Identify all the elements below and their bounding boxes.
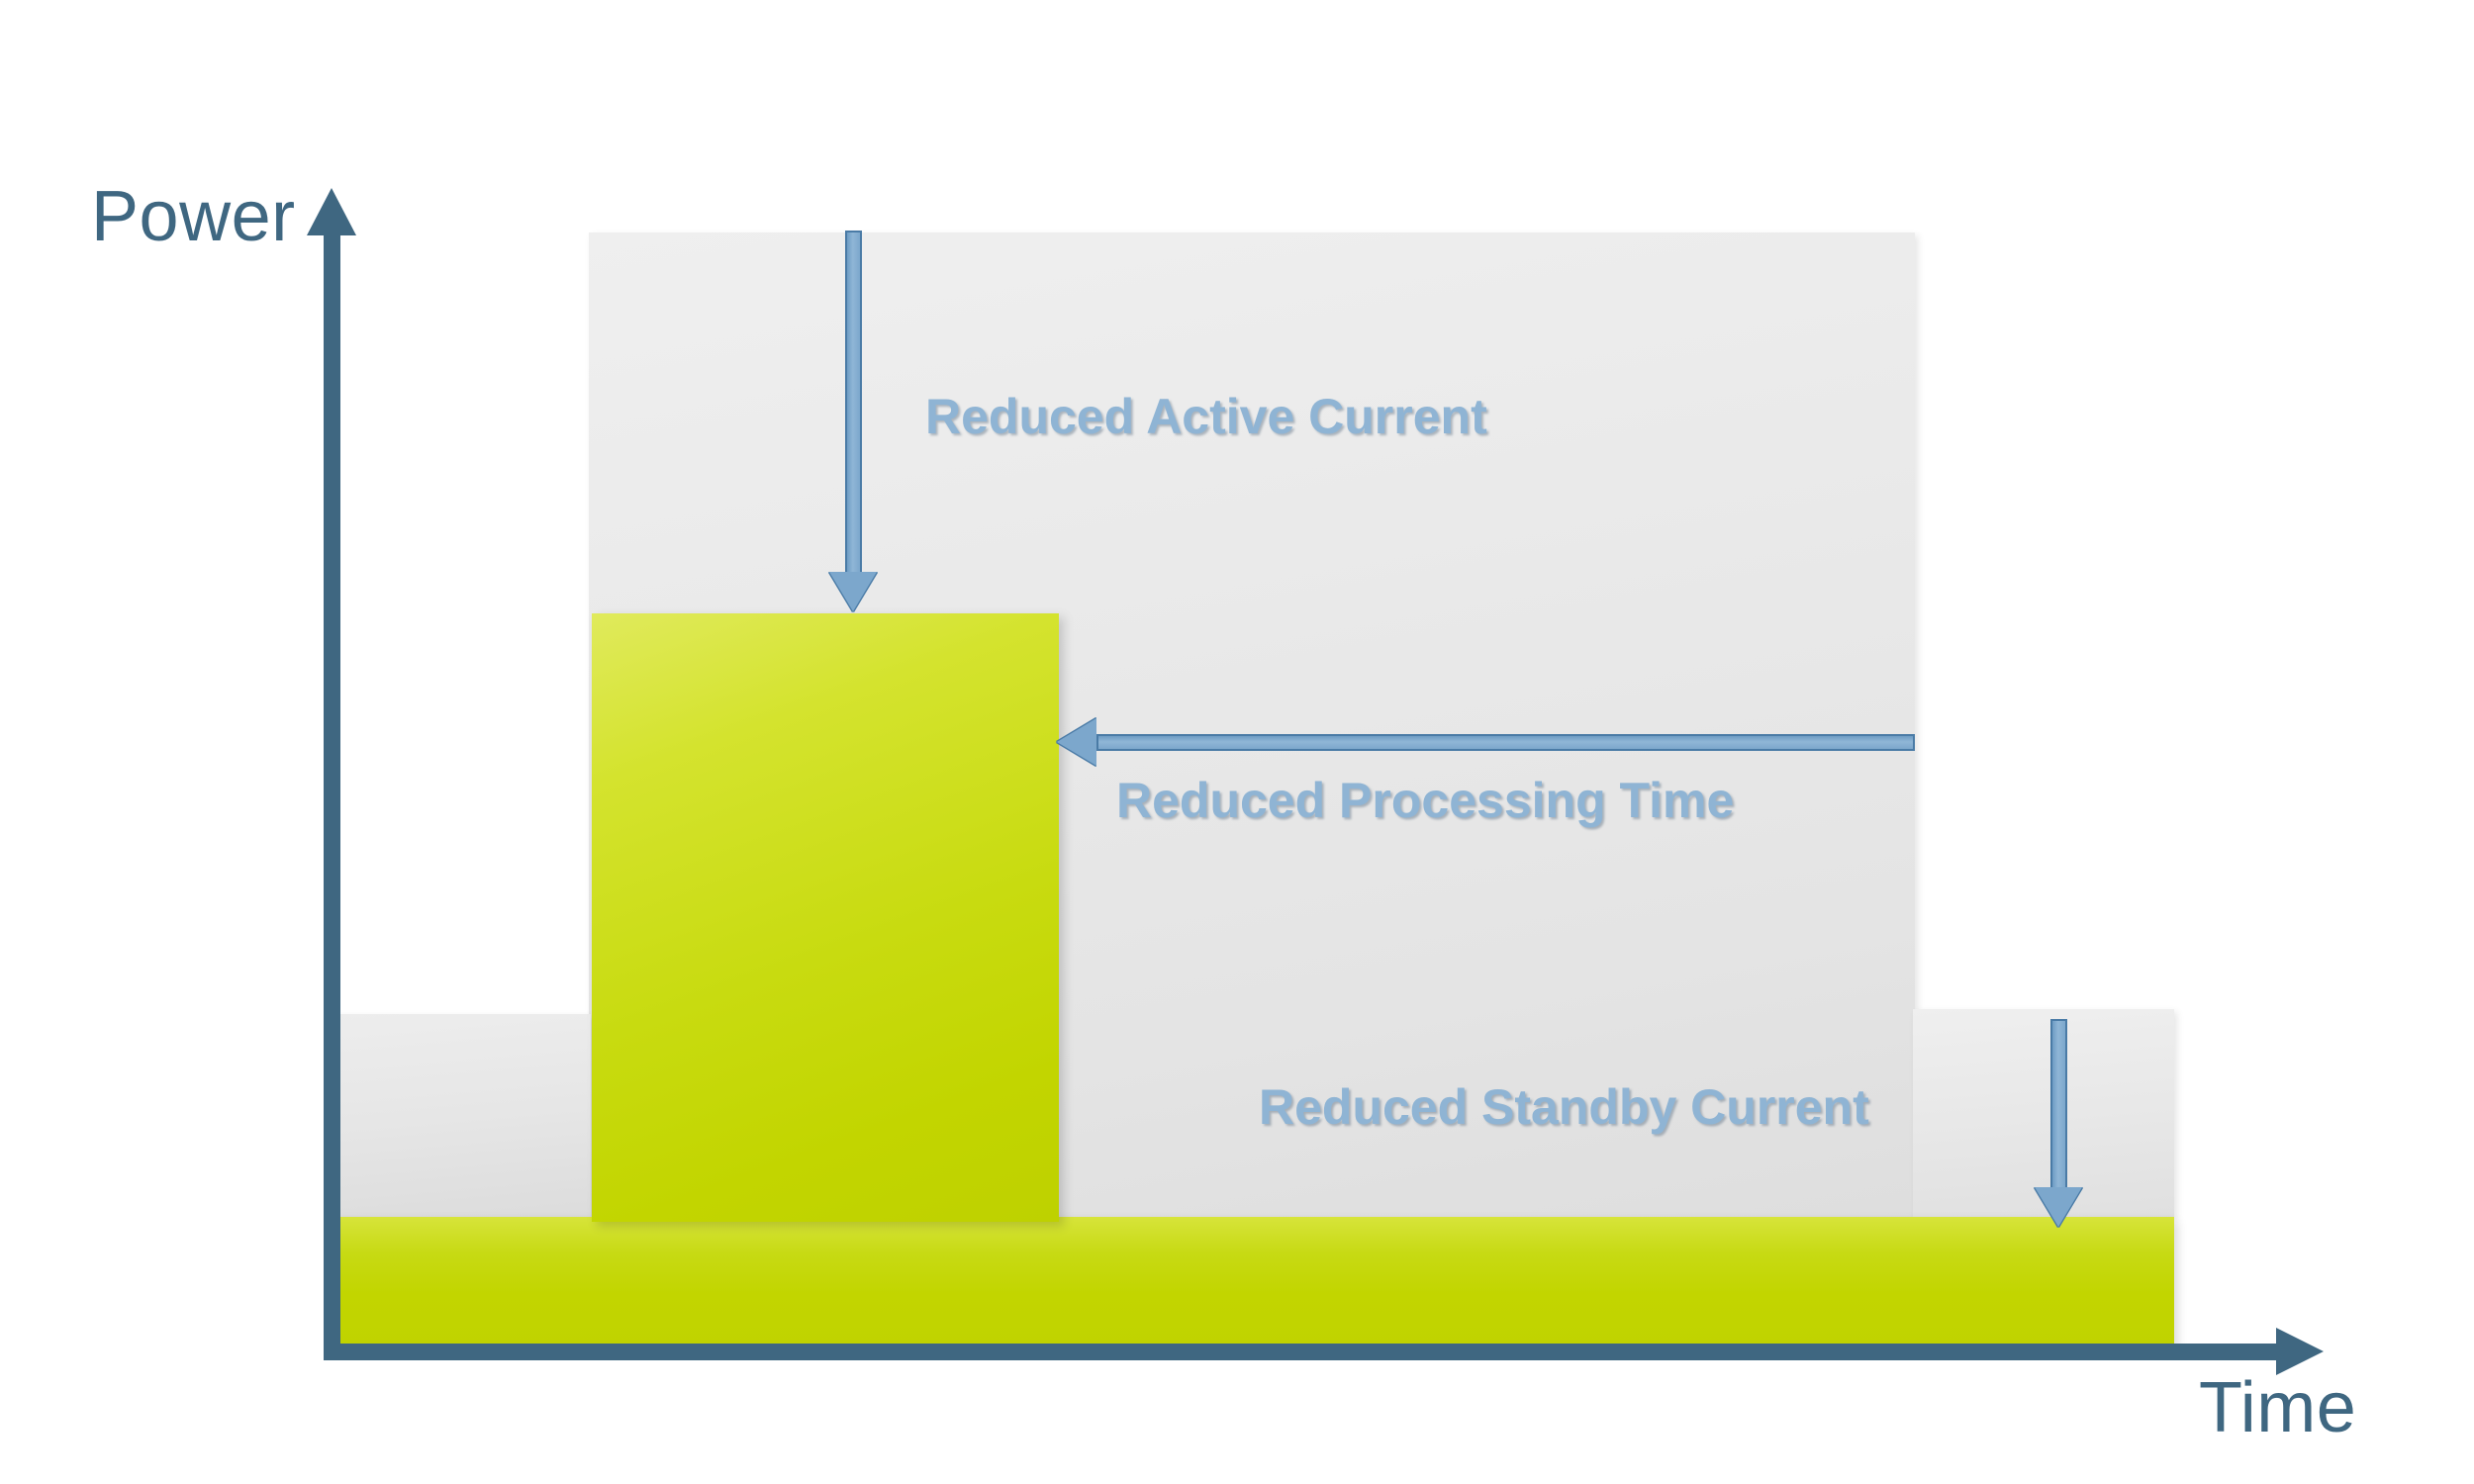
y-axis-arrow-icon (307, 188, 356, 235)
reduced-processing-time-arrow-shaft (1096, 734, 1915, 751)
baseline-standby-left-block (332, 1014, 591, 1217)
reduced-processing-time-arrow-head-icon (1057, 718, 1096, 766)
reduced-processing-time-label: Reduced Processing Time (1116, 772, 1734, 829)
reduced-standby-current-label: Reduced Standby Current (1259, 1078, 1869, 1136)
optimised-standby-bar (332, 1217, 2174, 1345)
reduced-standby-current-arrow-shaft (2050, 1019, 2067, 1195)
y-axis-line (324, 226, 340, 1358)
baseline-standby-right-block (1913, 1009, 2174, 1217)
y-axis-title: Power (91, 176, 296, 257)
optimised-active-bar (592, 613, 1059, 1222)
x-axis-title: Time (2199, 1367, 2356, 1448)
reduced-active-current-label: Reduced Active Current (925, 388, 1487, 445)
reduced-active-current-arrow-shaft (845, 231, 862, 579)
x-axis-line (324, 1344, 2288, 1360)
diagram-canvas: Reduced Active Current Reduced Processin… (0, 0, 2474, 1484)
reduced-active-current-arrow-head-icon (829, 572, 877, 611)
reduced-standby-current-arrow-head-icon (2035, 1187, 2082, 1227)
